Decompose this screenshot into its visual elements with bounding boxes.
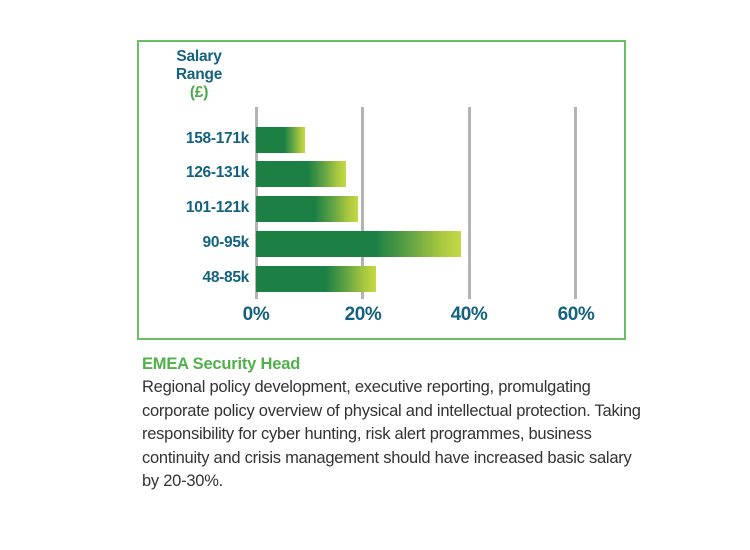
gridline-40: [468, 107, 471, 299]
bar-fill[interactable]: [256, 161, 346, 187]
bar-label: 126-131k: [139, 164, 249, 182]
bar-fill[interactable]: [256, 266, 376, 292]
plot-area: 158-171k 126-131k 101-121k 90-95k: [139, 42, 624, 338]
bar-fill[interactable]: [256, 127, 305, 153]
page-root: Salary Range (£) 158-171k 126-131k: [0, 0, 750, 550]
bar-label: 90-95k: [139, 234, 249, 252]
x-tick-label: 60%: [558, 304, 595, 326]
bar-fill[interactable]: [256, 231, 461, 257]
bar-label: 158-171k: [139, 130, 249, 148]
bar-label: 101-121k: [139, 199, 249, 217]
caption-title: EMEA Security Head: [142, 355, 642, 374]
bar-label: 48-85k: [139, 269, 249, 287]
gridline-60: [574, 107, 577, 299]
caption-body: Regional policy development, executive r…: [142, 376, 642, 494]
x-tick-label: 0%: [243, 304, 270, 326]
bar-fill[interactable]: [256, 196, 358, 222]
x-tick-label: 20%: [345, 304, 382, 326]
chart-panel: Salary Range (£) 158-171k 126-131k: [137, 40, 626, 340]
caption-block: EMEA Security Head Regional policy devel…: [142, 355, 642, 494]
x-tick-label: 40%: [451, 304, 488, 326]
